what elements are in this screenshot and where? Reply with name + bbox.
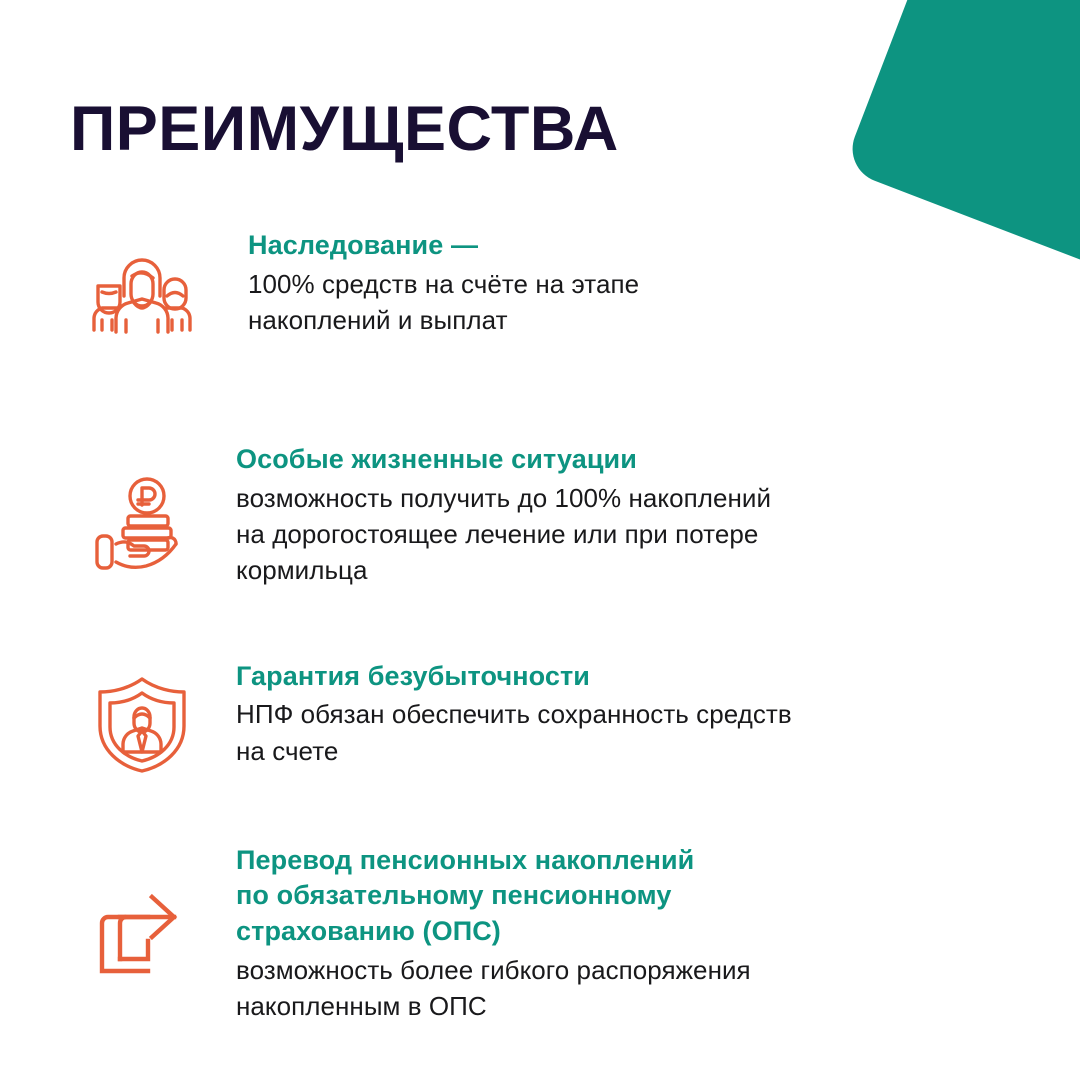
body-line: НПФ обязан обеспечить сохранность средст… xyxy=(236,696,792,732)
benefit-body: 100% средств на счёте на этапе накоплени… xyxy=(248,266,639,339)
list-item: Особые жизненные ситуации возможность по… xyxy=(0,442,1080,589)
heading-line: по обязательному пенсионному xyxy=(236,878,751,914)
benefit-heading: Наследование — xyxy=(248,228,639,264)
hand-with-ruble-coins-icon xyxy=(86,470,198,582)
benefit-body: НПФ обязан обеспечить сохранность средст… xyxy=(236,696,792,769)
heading-line: страхованию (ОПС) xyxy=(236,914,751,950)
benefits-list: Наследование — 100% средств на счёте на … xyxy=(0,228,1080,1024)
list-item: Перевод пенсионных накоплений по обязате… xyxy=(0,843,1080,1025)
body-line: возможность получить до 100% накоплений xyxy=(236,480,771,516)
heading-line: Перевод пенсионных накоплений xyxy=(236,843,751,879)
body-line: на счете xyxy=(236,733,792,769)
benefit-heading: Перевод пенсионных накоплений по обязате… xyxy=(236,843,751,950)
body-line: кормильца xyxy=(236,552,771,588)
body-line: 100% средств на счёте на этапе xyxy=(248,266,639,302)
page-title: ПРЕИМУЩЕСТВА xyxy=(70,96,619,162)
benefit-body: возможность получить до 100% накоплений … xyxy=(236,480,771,589)
shield-with-person-icon xyxy=(86,669,198,781)
list-item: Гарантия безубыточности НПФ обязан обесп… xyxy=(0,659,1080,781)
benefit-text-block: Особые жизненные ситуации возможность по… xyxy=(198,442,771,589)
slide-root: ПРЕИМУЩЕСТВА xyxy=(0,0,1080,1080)
body-line: накопленным в ОПС xyxy=(236,988,751,1024)
benefit-body: возможность более гибкого распоряжения н… xyxy=(236,952,751,1025)
benefit-text-block: Наследование — 100% средств на счёте на … xyxy=(198,228,639,338)
body-line: на дорогостоящее лечение или при потере xyxy=(236,516,771,552)
benefit-text-block: Гарантия безубыточности НПФ обязан обесп… xyxy=(198,659,792,769)
benefit-heading: Гарантия безубыточности xyxy=(236,659,792,695)
list-item: Наследование — 100% средств на счёте на … xyxy=(0,228,1080,346)
family-group-icon xyxy=(86,234,198,346)
body-line: возможность более гибкого распоряжения xyxy=(236,952,751,988)
benefit-text-block: Перевод пенсионных накоплений по обязате… xyxy=(198,843,751,1025)
body-line: накоплений и выплат xyxy=(248,302,639,338)
export-arrow-icon xyxy=(86,889,198,1001)
benefit-heading: Особые жизненные ситуации xyxy=(236,442,771,478)
